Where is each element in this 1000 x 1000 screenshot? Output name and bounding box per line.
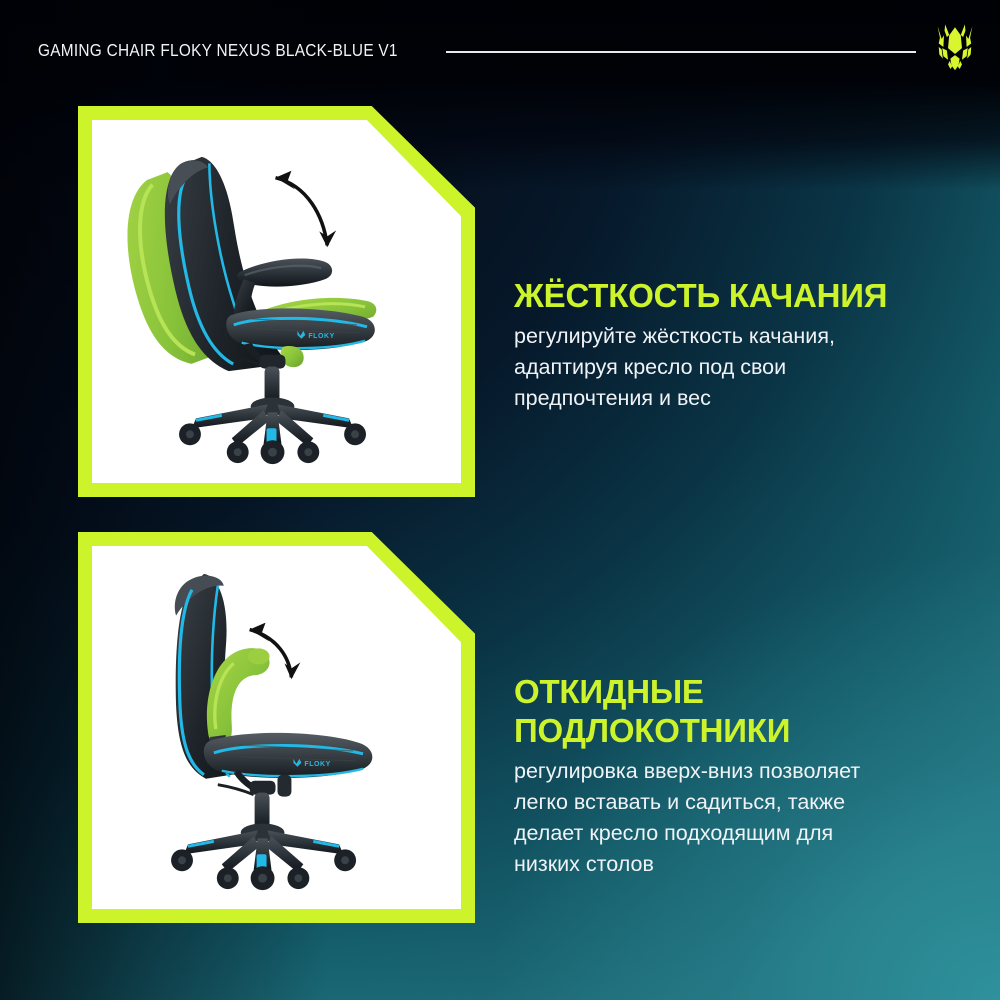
feature-title: ЖЁСТКОСТЬ КАЧАНИЯ (514, 276, 964, 315)
feature-description: регулировка вверх-вниз позволяет легко в… (514, 756, 964, 880)
photo-frame-inner: FLOKY (92, 546, 461, 909)
chair-armrest-photo: FLOKY (92, 546, 461, 909)
svg-text:FLOKY: FLOKY (308, 333, 335, 340)
page-header: GAMING CHAIR FLOKY NEXUS BLACK-BLUE V1 (0, 0, 1000, 96)
feature-block-flip-up-armrests: ОТКИДНЫЕ ПОДЛОКОТНИКИ регулировка вверх-… (514, 672, 964, 880)
wolf-head-logo-icon (926, 18, 984, 76)
photo-frame-rocking: FLOKY (78, 106, 475, 497)
infographic-page: GAMING CHAIR FLOKY NEXUS BLACK-BLUE V1 (0, 0, 1000, 1000)
feature-description: регулируйте жёсткость качания, адаптируя… (514, 321, 964, 414)
photo-frame-inner: FLOKY (92, 120, 461, 483)
header-divider-line (446, 51, 916, 53)
photo-frame-armrest: FLOKY (78, 532, 475, 923)
svg-text:FLOKY: FLOKY (304, 761, 331, 768)
chair-rocking-photo: FLOKY (92, 120, 461, 483)
feature-title: ОТКИДНЫЕ ПОДЛОКОТНИКИ (514, 672, 964, 750)
page-title: GAMING CHAIR FLOKY NEXUS BLACK-BLUE V1 (38, 40, 398, 60)
feature-block-rocking-stiffness: ЖЁСТКОСТЬ КАЧАНИЯ регулируйте жёсткость … (514, 276, 964, 414)
